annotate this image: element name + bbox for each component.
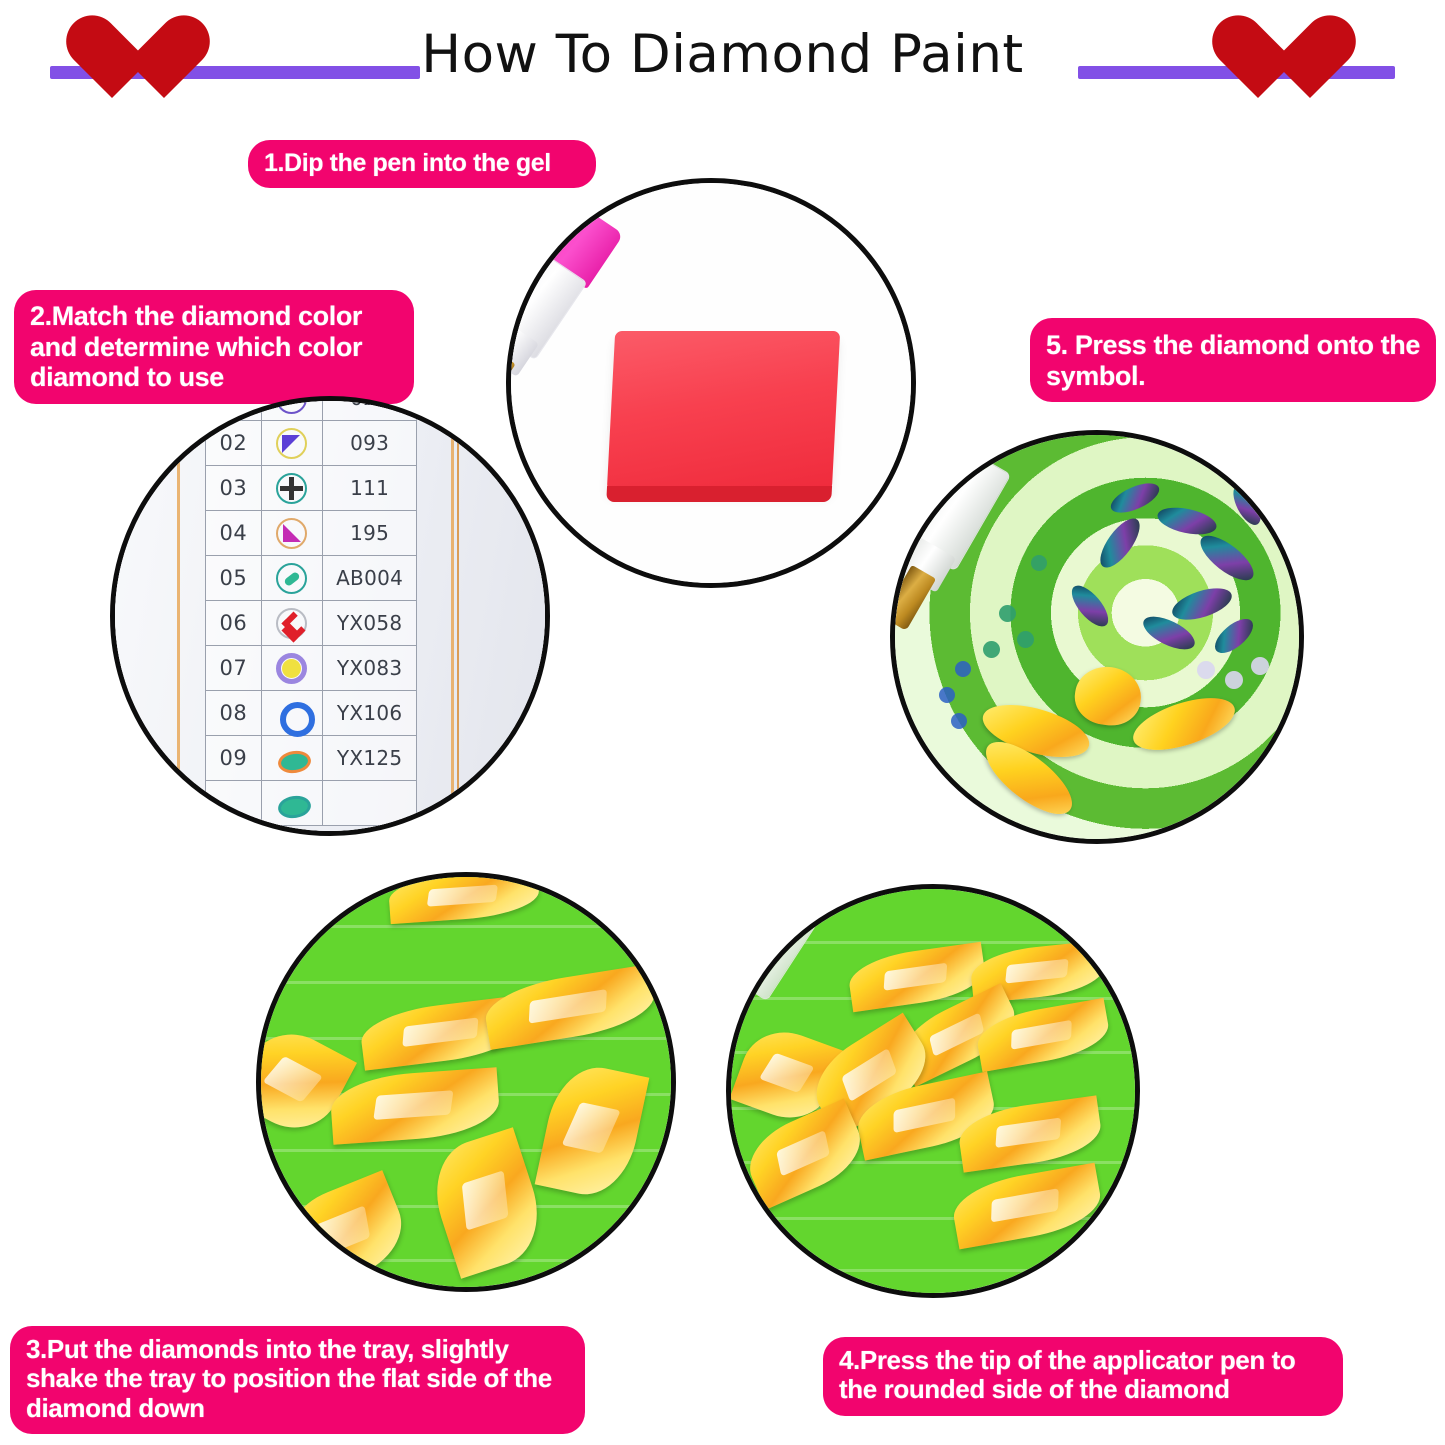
chart-code: YX106 [323,691,417,736]
step-5-label: 5. Press the diamond onto the symbol. [1030,318,1436,402]
triangle-down-right-icon [261,511,323,556]
photo-diamonds-in-tray [256,872,676,1292]
chart-no: 04 [206,511,262,556]
step-3-label: 3.Put the diamonds into the tray, slight… [10,1326,585,1434]
table-row: 04 195 [206,511,417,556]
gel-pad [607,331,840,491]
step-1-label: 1.Dip the pen into the gel [248,140,596,188]
chart-no: 03 [206,466,262,511]
table-row: 03 111 [206,466,417,511]
page-title: How To Diamond Paint [0,24,1445,85]
dot-in-ring-icon [261,646,323,691]
table-row: 07 YX083 [206,646,417,691]
chart-code: 093 [323,421,417,466]
applicator-pen [890,448,1011,648]
chart-code: 111 [323,466,417,511]
chart-no: 05 [206,556,262,601]
chart-code: YX058 [323,601,417,646]
chart-no: 06 [206,601,262,646]
double-dot-circle-icon [261,401,323,421]
triangle-up-left-icon [261,421,323,466]
chart-no: 02 [206,421,262,466]
chart-code [323,781,417,826]
chart-no: 08 [206,691,262,736]
slash-in-circle-icon [261,556,323,601]
chart-code: AB004 [323,556,417,601]
plus-in-circle-icon [261,466,323,511]
step-4-label: 4.Press the tip of the applicator pen to… [823,1337,1343,1416]
table-row: 028 [206,401,417,421]
chart-code: YX125 [323,736,417,781]
leaf-outline-icon [261,781,323,826]
chevron-left-icon [261,601,323,646]
chart-code: 195 [323,511,417,556]
chart-no: 07 [206,646,262,691]
chart-code: 028 [323,401,417,421]
table-row: 09 YX125 [206,736,417,781]
table-row: 05 AB004 [206,556,417,601]
table-row: 02 093 [206,421,417,466]
table-row: 08 YX106 [206,691,417,736]
photo-color-chart: 028 02 093 03 111 [110,396,550,836]
leaf-outline-icon [261,736,323,781]
table-row [206,781,417,826]
chart-code: YX083 [323,646,417,691]
step-2-label: 2.Match the diamond color and determine … [14,290,414,404]
photo-pen-into-gel [506,178,916,588]
table-row: 06 YX058 [206,601,417,646]
donut-ring-icon [261,691,323,736]
applicator-pen [506,200,624,405]
photo-press-onto-symbol [890,430,1304,844]
chart-no [206,781,262,826]
color-chart-table: 028 02 093 03 111 [205,401,417,826]
photo-pen-picking-diamond [726,884,1140,1298]
page-header: How To Diamond Paint [0,0,1445,120]
chart-no: 09 [206,736,262,781]
chart-no [206,401,262,421]
